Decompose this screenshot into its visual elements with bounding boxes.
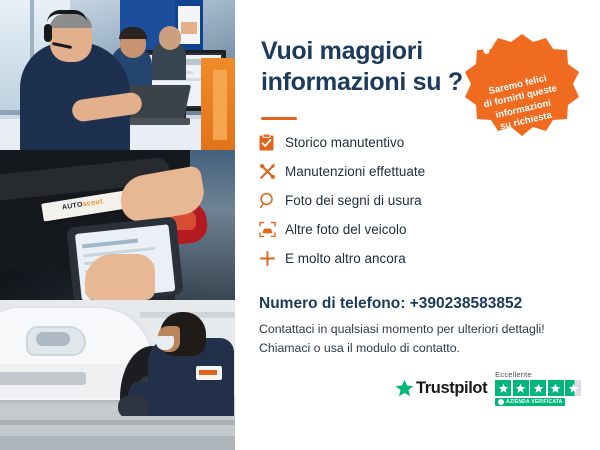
contact-instructions: Contattaci in qualsiasi momento per ulte… xyxy=(259,320,559,358)
feature-item-wear-photos: Foto dei segni di usura xyxy=(259,188,509,213)
photo-car-headlight-inner xyxy=(36,332,70,346)
photo-column: AUTOscout xyxy=(0,0,235,450)
trustpilot-verified-badge: AZIENDA VERIFICATA xyxy=(495,398,565,406)
feature-label: Manutenzioni effettuate xyxy=(285,164,425,179)
photo-mechanic-badge xyxy=(196,366,222,380)
clipboard-check-icon xyxy=(259,134,285,151)
car-scan-icon xyxy=(259,221,285,238)
feature-label: Storico manutentivo xyxy=(285,135,404,150)
title-underline-rule xyxy=(261,117,297,120)
contact-instructions-line-1: Contattaci in qualsiasi momento per ulte… xyxy=(259,320,559,339)
photo-poster xyxy=(178,6,200,44)
trustpilot-verified-label: AZIENDA VERIFICATA xyxy=(506,399,562,405)
contact-info-card: AUTOscout xyxy=(0,0,600,450)
magnifier-icon xyxy=(259,192,285,209)
photo-orange-rack-stripe xyxy=(213,70,227,140)
trustpilot-wordmark: Trustpilot xyxy=(416,379,487,398)
trustpilot-rating: Eccellente xyxy=(495,370,583,406)
trustpilot-logo: Trustpilot xyxy=(395,379,487,398)
photo-agent-headset-cup xyxy=(44,24,52,42)
photo-agent-headset-band xyxy=(47,10,87,23)
star-filled xyxy=(530,380,546,396)
feature-list: Storico manutentivo Manutenzioni effettu… xyxy=(259,130,509,275)
photo-mechanic-mask xyxy=(156,336,174,350)
feature-item-vehicle-photos: Altre foto del veicolo xyxy=(259,217,509,242)
photo-mechanic-glove xyxy=(118,396,148,418)
page-title: Vuoi maggiori informazioni su ? xyxy=(261,36,491,97)
star-filled xyxy=(513,380,529,396)
vehicle-inspection-photo: AUTOscout xyxy=(0,150,235,300)
wrench-screwdriver-icon xyxy=(259,163,285,180)
photo-workshop-floor xyxy=(0,436,235,450)
photo-coworker-far-head xyxy=(159,26,181,50)
feature-item-more: E molto altro ancora xyxy=(259,246,509,271)
verified-check-icon xyxy=(498,399,504,405)
star-half xyxy=(565,380,581,396)
feature-item-maintenance-done: Manutenzioni effettuate xyxy=(259,159,509,184)
trustpilot-stars xyxy=(495,380,583,396)
plus-icon xyxy=(259,250,285,267)
feature-label: Foto dei segni di usura xyxy=(285,193,422,208)
headset-icon xyxy=(463,32,491,56)
trustpilot-rating-label: Eccellente xyxy=(495,370,532,379)
star-filled xyxy=(548,380,564,396)
contact-instructions-line-2: Chiamaci o usa il modulo di contatto. xyxy=(259,339,559,358)
star-filled xyxy=(495,380,511,396)
trustpilot-widget[interactable]: Trustpilot Eccellente xyxy=(395,370,583,406)
workshop-photo xyxy=(0,300,235,450)
feature-label: Altre foto del veicolo xyxy=(285,222,407,237)
feature-label: E molto altro ancora xyxy=(285,251,406,266)
page-title-line-1: Vuoi maggiori xyxy=(261,36,491,67)
phone-number-label[interactable]: Numero di telefono: +390238583852 xyxy=(259,295,522,313)
photo-hand-lower xyxy=(85,254,155,300)
info-panel: Vuoi maggiori informazioni su ? Saremo f… xyxy=(235,0,600,450)
page-title-line-2: informazioni su ? xyxy=(261,67,491,98)
trustpilot-star-icon xyxy=(395,379,414,398)
photo-car-grille xyxy=(0,372,86,385)
call-center-photo xyxy=(0,0,235,150)
feature-item-maintenance-history: Storico manutentivo xyxy=(259,130,509,155)
